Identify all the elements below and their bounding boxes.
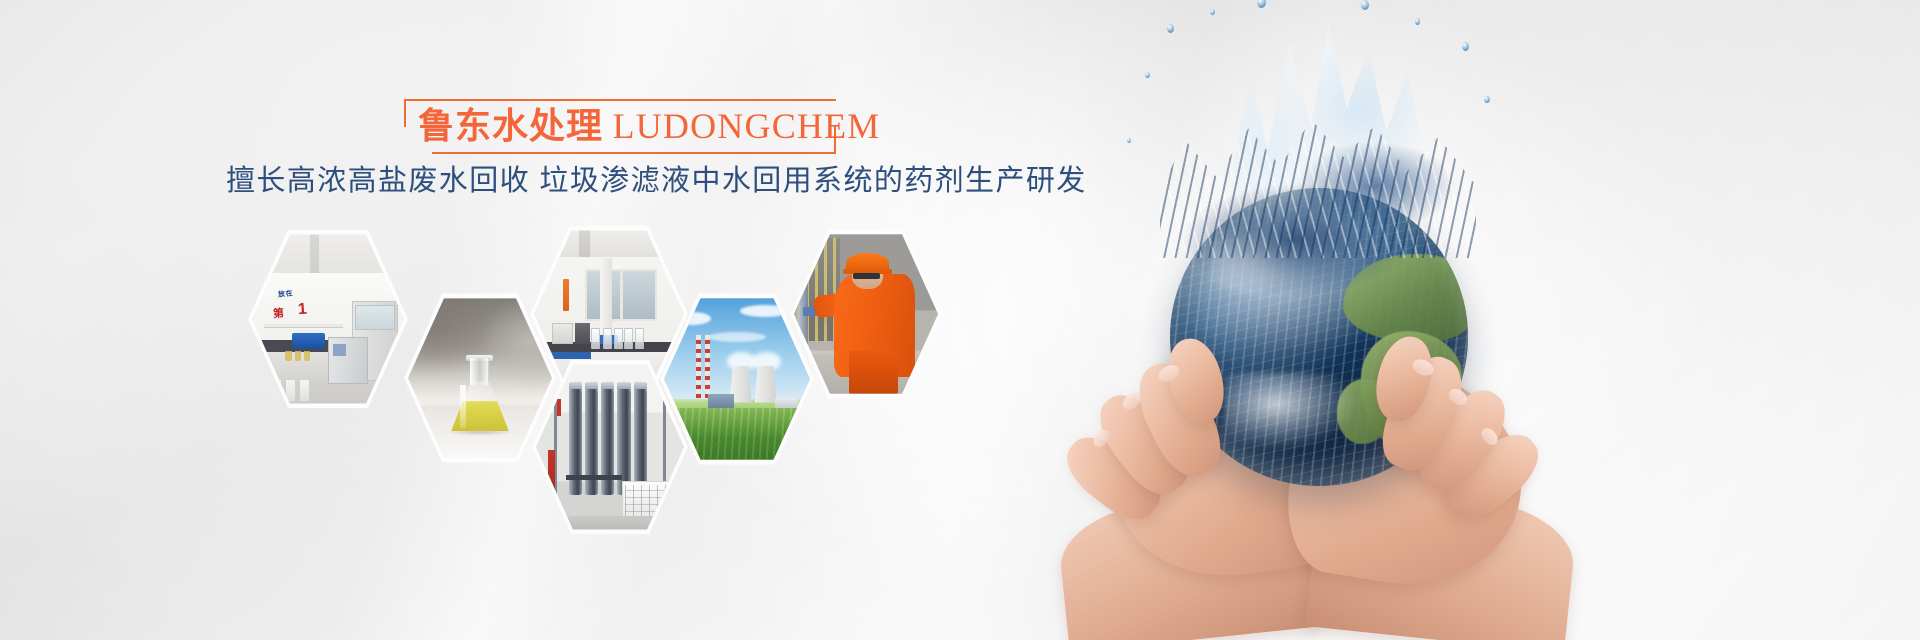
hex-photo-clip — [664, 295, 810, 463]
sample-flask — [295, 351, 301, 362]
water-droplet — [1145, 72, 1150, 78]
glassware — [624, 328, 633, 349]
instrument-box — [552, 323, 573, 344]
smokestack — [696, 335, 701, 399]
water-droplet — [1127, 138, 1131, 143]
photo-membrane-skid — [536, 361, 684, 533]
hex-photo-clip: 放在 第 1 — [252, 231, 404, 407]
smokestack — [705, 335, 710, 399]
cabinet-glass — [355, 305, 395, 330]
glassware — [603, 328, 612, 349]
water-droplet — [1167, 24, 1174, 33]
blue-instrument — [292, 333, 325, 349]
control-panel — [333, 344, 347, 356]
hose — [566, 475, 622, 480]
wall-shelf — [264, 324, 343, 327]
safety-glasses — [853, 273, 880, 280]
red-valve — [557, 399, 561, 416]
sample-flask — [304, 351, 310, 362]
window-mullion — [620, 269, 623, 321]
wall-slogan-main: 第 — [273, 305, 285, 322]
ceiling-beam — [579, 227, 590, 257]
water-droplet — [1257, 0, 1266, 8]
sample-flask — [285, 351, 291, 362]
glass-highlight — [460, 385, 466, 428]
flask-neck — [470, 358, 489, 385]
hero-hands-globe — [1052, 0, 1652, 640]
hex-photo-clip — [794, 231, 938, 397]
worker-leg — [849, 351, 898, 394]
water-droplet — [1415, 18, 1420, 25]
hex-photo-clip — [536, 361, 684, 533]
wall-slogan-top: 放在 — [277, 288, 293, 300]
hex-tile-laboratory-room[interactable]: 放在 第 1 — [248, 226, 408, 412]
photo-conical-flask — [408, 295, 552, 461]
orange-stand — [563, 279, 569, 310]
glassware — [591, 328, 600, 349]
dark-instrument — [575, 323, 590, 344]
membrane-vessel — [634, 389, 647, 496]
glassware — [635, 328, 644, 349]
hexagon-photo-cluster: 放在 第 1 — [0, 0, 1040, 640]
hero-banner: 鲁东水处理 LUDONGCHEM 擅长高浓高盐废水回收 垃圾渗滤液中水回用系统的… — [0, 0, 1920, 640]
water-splash-crown — [1138, 6, 1498, 306]
wall-slogan-number: 1 — [297, 301, 307, 320]
water-droplet — [1210, 9, 1215, 15]
ceiling — [534, 227, 684, 257]
plant-building — [708, 394, 734, 407]
cloud — [708, 332, 766, 342]
chemical-jug — [299, 379, 310, 402]
photo-laboratory-room: 放在 第 1 — [252, 231, 404, 407]
hex-tile-technician[interactable] — [790, 226, 942, 402]
photo-technician — [794, 231, 938, 397]
ceiling-beam — [310, 231, 319, 277]
ceiling — [252, 231, 404, 277]
water-droplet — [1462, 42, 1469, 51]
hex-photo-clip — [408, 295, 552, 461]
photo-power-plant — [664, 295, 810, 463]
glassware — [614, 328, 623, 349]
splash-ridges — [1160, 114, 1477, 258]
cooling-tower — [755, 366, 777, 403]
water-droplet — [1361, 0, 1369, 10]
water-droplet — [1484, 96, 1490, 103]
